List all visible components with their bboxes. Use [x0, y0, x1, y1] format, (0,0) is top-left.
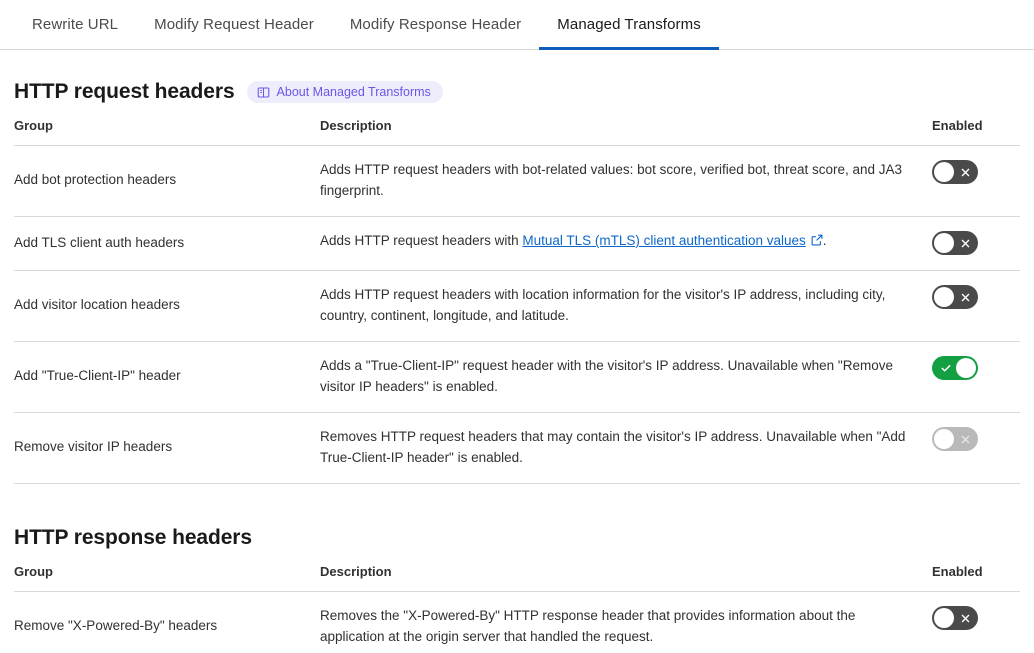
description-cell: Adds a "True-Client-IP" request header w…: [320, 342, 932, 413]
toggle-cross-icon: [960, 285, 971, 309]
page-title: HTTP request headers: [14, 80, 235, 104]
toggle-knob: [934, 162, 954, 182]
enabled-toggle[interactable]: [932, 606, 978, 630]
toggle-cross-icon: [960, 427, 971, 451]
section-header: HTTP request headersAbout Managed Transf…: [14, 80, 1020, 104]
description-cell: Adds HTTP request headers with location …: [320, 271, 932, 342]
column-header-enabled: Enabled: [932, 118, 1020, 146]
enabled-cell: [932, 413, 1020, 484]
enabled-cell: [932, 342, 1020, 413]
enabled-toggle[interactable]: [932, 356, 978, 380]
description-cell: Removes HTTP request headers that may co…: [320, 413, 932, 484]
description-cell: Removes the "X-Powered-By" HTTP response…: [320, 592, 932, 653]
external-link-icon: [811, 232, 823, 253]
tab-rewrite-url[interactable]: Rewrite URL: [14, 17, 136, 50]
column-header-description: Description: [320, 118, 932, 146]
description-text: Adds HTTP request headers with location …: [320, 287, 885, 323]
group-cell: Remove visitor IP headers: [14, 413, 320, 484]
section-0: HTTP request headersAbout Managed Transf…: [14, 80, 1020, 484]
tab-modify-response-header[interactable]: Modify Response Header: [332, 17, 539, 50]
toggle-knob: [934, 608, 954, 628]
page-title: HTTP response headers: [14, 526, 252, 550]
enabled-cell: [932, 217, 1020, 271]
badge-label: About Managed Transforms: [277, 85, 431, 99]
tab-managed-transforms[interactable]: Managed Transforms: [539, 17, 719, 50]
section-header: HTTP response headers: [14, 526, 1020, 550]
table-header-row: GroupDescriptionEnabled: [14, 118, 1020, 146]
column-header-group: Group: [14, 564, 320, 592]
enabled-toggle[interactable]: [932, 231, 978, 255]
column-header-group: Group: [14, 118, 320, 146]
enabled-toggle: [932, 427, 978, 451]
table-row: Add bot protection headersAdds HTTP requ…: [14, 146, 1020, 217]
table-row: Remove visitor IP headersRemoves HTTP re…: [14, 413, 1020, 484]
tab-modify-request-header[interactable]: Modify Request Header: [136, 17, 332, 50]
managed-transforms-table: GroupDescriptionEnabledRemove "X-Powered…: [14, 564, 1020, 653]
column-header-enabled: Enabled: [932, 564, 1020, 592]
enabled-toggle[interactable]: [932, 285, 978, 309]
table-row: Add TLS client auth headersAdds HTTP req…: [14, 217, 1020, 271]
mtls-doc-link[interactable]: Mutual TLS (mTLS) client authentication …: [522, 233, 805, 248]
toggle-cross-icon: [960, 160, 971, 184]
group-cell: Add "True-Client-IP" header: [14, 342, 320, 413]
toggle-knob: [956, 358, 976, 378]
tab-bar: Rewrite URLModify Request HeaderModify R…: [0, 0, 1034, 50]
group-cell: Add visitor location headers: [14, 271, 320, 342]
toggle-knob: [934, 429, 954, 449]
about-managed-transforms-badge[interactable]: About Managed Transforms: [247, 81, 443, 103]
toggle-check-icon: [940, 356, 952, 380]
section-1: HTTP response headersGroupDescriptionEna…: [14, 526, 1020, 653]
group-cell: Remove "X-Powered-By" headers: [14, 592, 320, 653]
toggle-knob: [934, 233, 954, 253]
description-cell: Adds HTTP request headers with bot-relat…: [320, 146, 932, 217]
page-content: HTTP request headersAbout Managed Transf…: [0, 80, 1034, 653]
table-row: Add visitor location headersAdds HTTP re…: [14, 271, 1020, 342]
group-cell: Add TLS client auth headers: [14, 217, 320, 271]
toggle-cross-icon: [960, 231, 971, 255]
managed-transforms-table: GroupDescriptionEnabledAdd bot protectio…: [14, 118, 1020, 484]
enabled-cell: [932, 271, 1020, 342]
description-text: Adds a "True-Client-IP" request header w…: [320, 358, 893, 394]
book-icon: [257, 86, 270, 99]
enabled-toggle[interactable]: [932, 160, 978, 184]
table-row: Add "True-Client-IP" headerAdds a "True-…: [14, 342, 1020, 413]
description-text: Adds HTTP request headers with bot-relat…: [320, 162, 902, 198]
table-header-row: GroupDescriptionEnabled: [14, 564, 1020, 592]
table-row: Remove "X-Powered-By" headersRemoves the…: [14, 592, 1020, 653]
description-cell: Adds HTTP request headers with Mutual TL…: [320, 217, 932, 271]
toggle-cross-icon: [960, 606, 971, 630]
description-text: Adds HTTP request headers with: [320, 233, 522, 248]
column-header-description: Description: [320, 564, 932, 592]
description-text: Removes HTTP request headers that may co…: [320, 429, 905, 465]
group-cell: Add bot protection headers: [14, 146, 320, 217]
enabled-cell: [932, 592, 1020, 653]
description-text: Removes the "X-Powered-By" HTTP response…: [320, 608, 855, 644]
description-suffix: .: [823, 233, 827, 248]
toggle-knob: [934, 287, 954, 307]
enabled-cell: [932, 146, 1020, 217]
